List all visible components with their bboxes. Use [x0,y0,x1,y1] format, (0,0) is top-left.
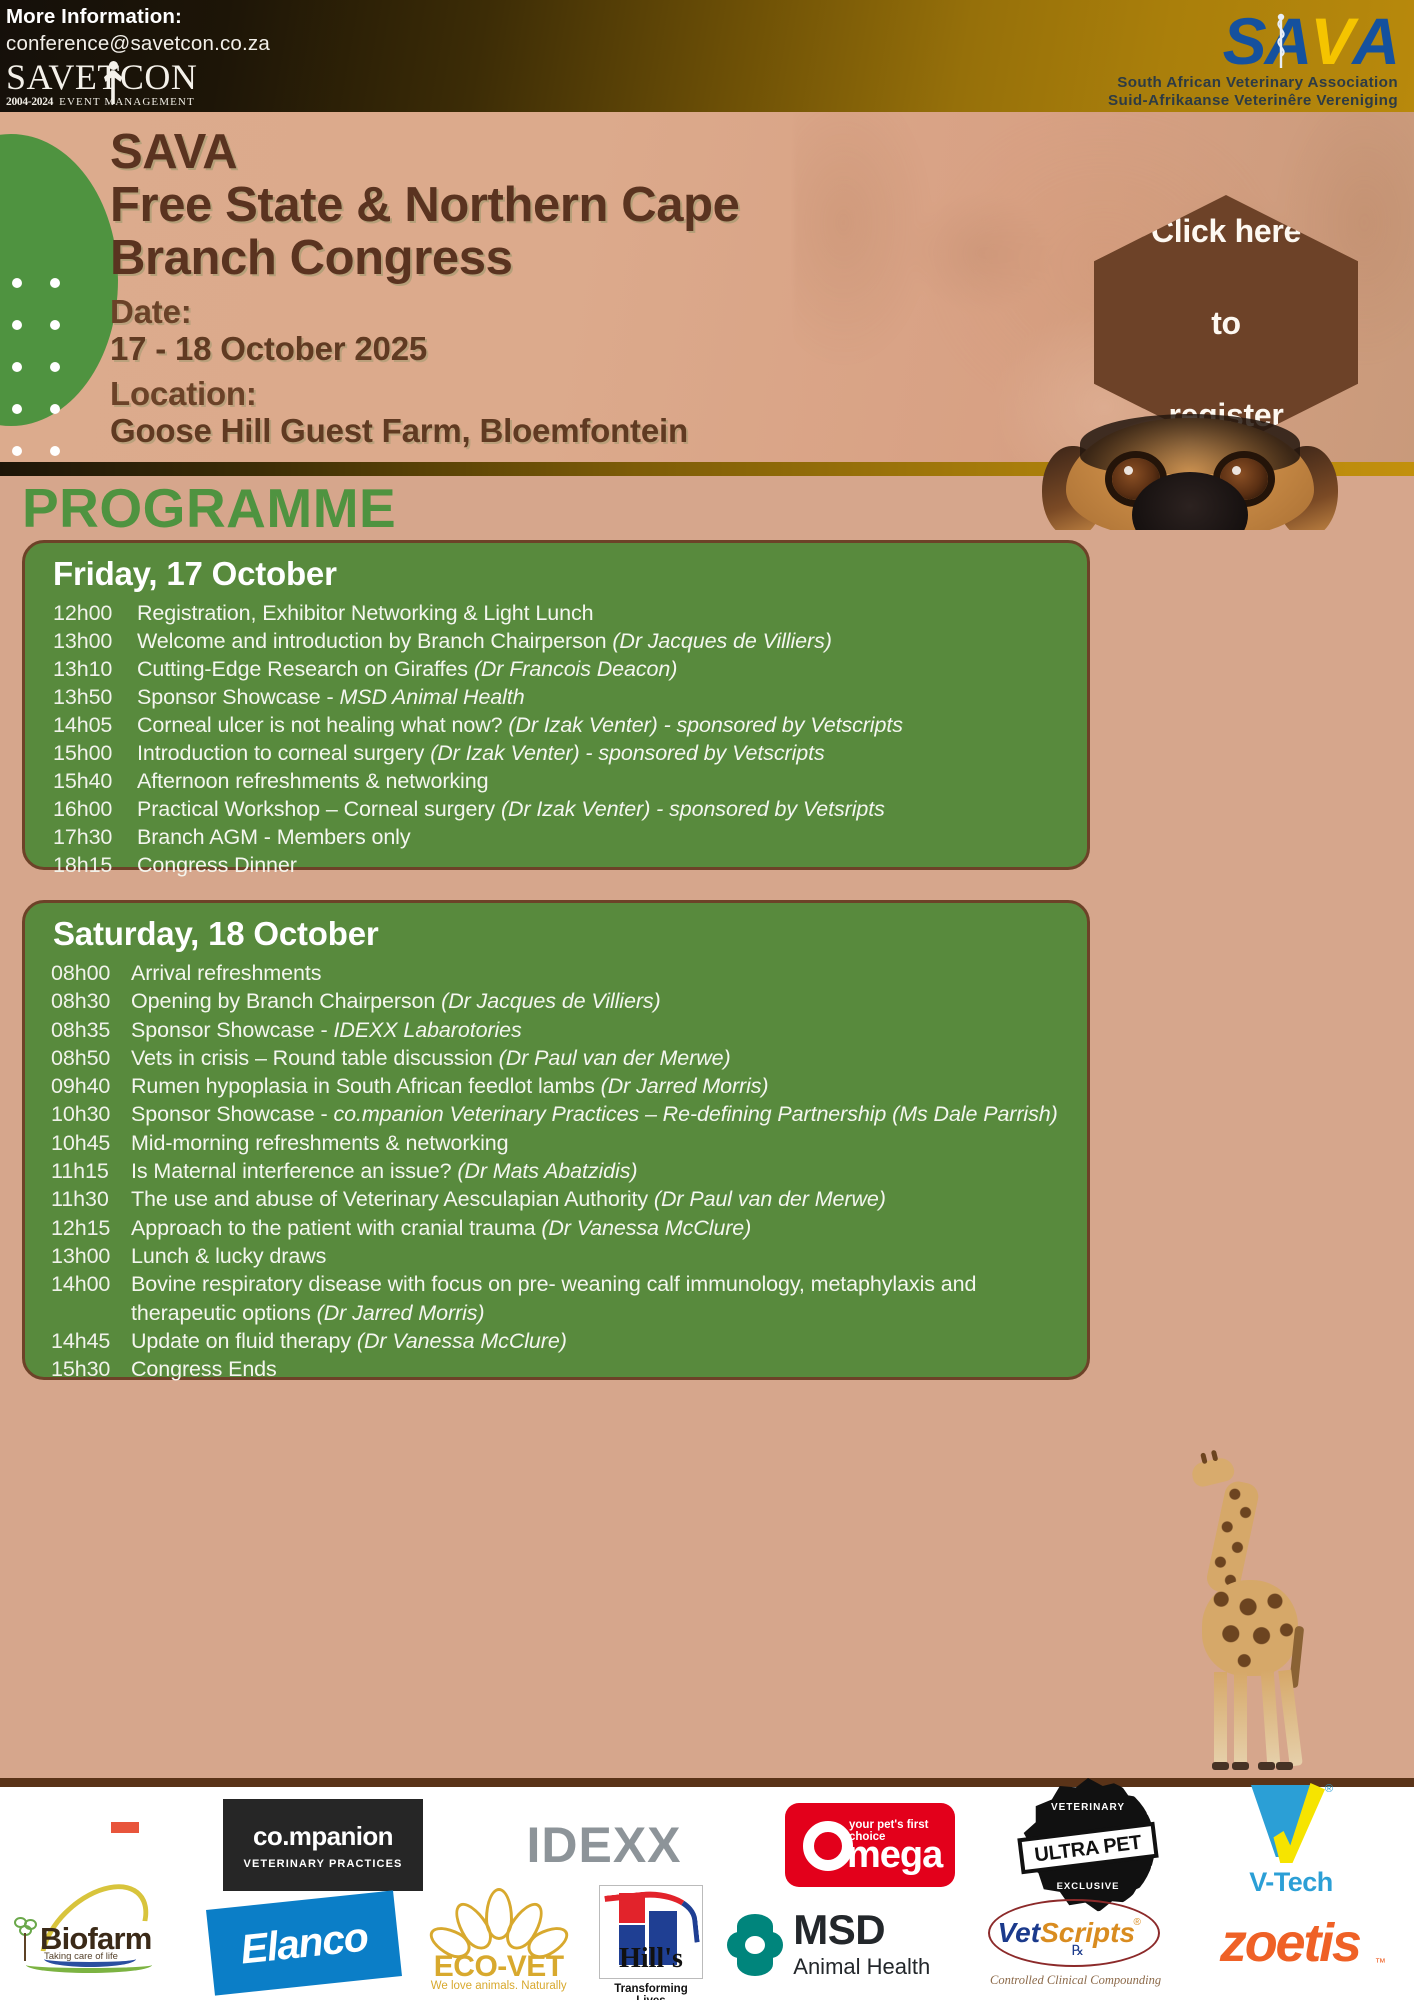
savetcon-wordmark: SAVETCON [6,59,316,95]
contact-block: More Information: conference@savetcon.co… [6,4,526,105]
session-row: 10h30 Sponsor Showcase - co.mpanion Vete… [51,1100,1087,1128]
session-row: 08h50 Vets in crisis – Round table discu… [51,1044,1087,1072]
session-time: 15h40 [53,767,137,795]
session-time: 12h00 [53,599,137,627]
session-desc: Mid-morning refreshments & networking [131,1129,508,1157]
session-desc: Cutting-Edge Research on Giraffes (Dr Fr… [137,655,677,683]
session-row: 08h30 Opening by Branch Chairperson (Dr … [51,987,1087,1015]
session-desc: Congress Dinner [137,851,297,879]
sponsor-logo-strip: Biofarm Taking care of life co.mpanion V… [0,1778,1414,2000]
session-row: 13h10 Cutting-Edge Research on Giraffes … [53,655,1087,683]
day-card-friday: Friday, 17 October 12h00 Registration, E… [22,540,1090,870]
date-value: 17 - 18 October 2025 [110,330,1070,367]
msd-tagline: Animal Health [793,1954,930,1980]
sponsor-logo-hills: Hill's Transforming Lives [599,1885,703,2000]
session-desc: Is Maternal interference an issue? (Dr M… [131,1157,637,1185]
session-time: 15h00 [53,739,137,767]
session-row: 15h30 Congress Ends [51,1355,1087,1383]
location-value: Goose Hill Guest Farm, Bloemfontein [110,412,1070,449]
session-row: 11h15 Is Maternal interference an issue?… [51,1157,1087,1185]
congress-title-line-1: SAVA [110,126,1070,179]
dog-photo [1040,410,1340,530]
session-desc: Registration, Exhibitor Networking & Lig… [137,599,594,627]
msd-name: MSD [793,1906,885,1954]
savetcon-years: 2004-2024 [6,96,53,108]
session-desc: Bovine respiratory disease with focus on… [131,1270,976,1298]
ultrapet-top-text: VETERINARY [1021,1802,1155,1813]
sponsor-logo-ultrapet: VETERINARY ULTRA PET EXCLUSIVE [1021,1778,1155,1912]
session-row: 13h50 Sponsor Showcase - MSD Animal Heal… [53,683,1087,711]
day-card-saturday: Saturday, 18 October 08h00 Arrival refre… [22,900,1090,1380]
companion-tagline: VETERINARY PRACTICES [244,1858,403,1870]
sava-text-sa: SA [1223,8,1311,74]
session-time: 13h50 [53,683,137,711]
sava-association-logo: SAVA South African Veterinary Associatio… [1018,8,1398,104]
session-time: 10h45 [51,1129,131,1157]
congress-title-line-2: Free State & Northern Cape [110,179,1070,232]
savetcon-logo: SAVETCON 2004-2024EVENT MANAGEMENT [6,59,316,105]
session-desc: Opening by Branch Chairperson (Dr Jacque… [131,987,661,1015]
session-desc: Arrival refreshments [131,959,321,987]
top-information-bar: More Information: conference@savetcon.co… [0,0,1414,112]
vetscripts-tagline: Controlled Clinical Compounding [984,1973,1168,1988]
session-row: 13h00 Welcome and introduction by Branch… [53,627,1087,655]
session-time: 09h40 [51,1072,131,1100]
session-desc: Sponsor Showcase - MSD Animal Health [137,683,525,711]
vtech-registered-mark: ® [1325,1783,1333,1795]
session-desc: Rumen hypoplasia in South African feedlo… [131,1072,768,1100]
ecovet-name: ECO-VET [423,1950,575,1984]
session-time: 11h30 [51,1185,131,1213]
vetscripts-name-1: Vet [998,1917,1041,1948]
sponsor-logo-idexx: IDEXX [489,1817,719,1873]
session-row: 12h00 Registration, Exhibitor Networking… [53,599,1087,627]
session-row: 14h45 Update on fluid therapy (Dr Vaness… [51,1327,1087,1355]
session-desc: Approach to the patient with cranial tra… [131,1214,751,1242]
session-desc: Sponsor Showcase - co.mpanion Veterinary… [131,1100,1058,1128]
session-desc: The use and abuse of Veterinary Aesculap… [131,1185,886,1213]
session-time: 13h00 [51,1242,131,1270]
session-row: 09h40 Rumen hypoplasia in South African … [51,1072,1087,1100]
date-label: Date: [110,293,1070,330]
session-time: 17h30 [53,823,137,851]
session-time: 11h15 [51,1157,131,1185]
ultrapet-bottom-text: EXCLUSIVE [1021,1881,1155,1892]
session-desc: Sponsor Showcase - IDEXX Labarotories [131,1016,522,1044]
decorative-dot-grid [8,278,78,462]
session-row: 14h00 Bovine respiratory disease with fo… [51,1270,1087,1298]
session-desc: Vets in crisis – Round table discussion … [131,1044,731,1072]
ecovet-tagline: We love animals. Naturally [423,1980,575,1992]
session-row: 08h35 Sponsor Showcase - IDEXX Labarotor… [51,1016,1087,1044]
sponsor-row-1: co.mpanion VETERINARY PRACTICES IDEXX yo… [0,1799,1414,1891]
session-time: 08h00 [51,959,131,987]
congress-title-line-3: Branch Congress [110,232,1070,285]
location-label: Location: [110,375,1070,412]
register-button-line-2: to [1151,300,1301,346]
session-row: 11h30 The use and abuse of Veterinary Ae… [51,1185,1087,1213]
session-time: 08h50 [51,1044,131,1072]
sava-subtitle-afrikaans: Suid-Afrikaanse Veterinêre Vereniging [1018,92,1398,110]
session-time: 13h00 [53,627,137,655]
session-list-saturday: 08h00 Arrival refreshments 08h30 Opening… [25,959,1087,1383]
session-row: 08h00 Arrival refreshments [51,959,1087,987]
sponsor-logo-zoetis: zoetis ™ [1192,1905,1388,1981]
sava-text-a: A [1352,8,1398,74]
session-row: 12h15 Approach to the patient with crani… [51,1214,1087,1242]
poster-page: More Information: conference@savetcon.co… [0,0,1414,2000]
caduceus-icon [1268,12,1294,70]
elanco-name: Elanco [239,1913,370,1973]
vetscripts-registered-mark: ® [1134,1917,1141,1928]
sponsor-logo-companion: co.mpanion VETERINARY PRACTICES [223,1799,423,1891]
companion-name: co.mpanion [253,1821,393,1852]
sponsor-logo-vtech: ® V-Tech [1221,1781,1361,1909]
sponsor-logo-msd: MSD Animal Health [727,1900,959,1986]
session-time: 12h15 [51,1214,131,1242]
session-desc: Introduction to corneal surgery (Dr Izak… [137,739,825,767]
session-row: 17h30 Branch AGM - Members only [53,823,1087,851]
sava-text-v: V [1310,8,1352,74]
more-information-label: More Information: [6,4,526,30]
vetscripts-rx-icon: ℞ [1072,1943,1085,1960]
page-title: PROGRAMME [22,478,396,538]
sponsor-logo-vetscripts: VetScripts ® ℞ Controlled Clinical Compo… [984,1893,1168,1993]
session-desc: Afternoon refreshments & networking [137,767,488,795]
vetscripts-name-2: Scripts [1040,1917,1135,1948]
sponsor-row-2: Elanco ECO-VET We love animals. Naturall… [0,1893,1414,1993]
sponsor-logo-omega: your pet's first choice mega [785,1803,955,1887]
hills-name: Hill's [599,1943,703,1975]
hero-text-block: SAVA Free State & Northern Cape Branch C… [110,126,1070,449]
zoetis-tm-mark: ™ [1375,1957,1386,1969]
savetcon-subline: 2004-2024EVENT MANAGEMENT [6,96,195,108]
idexx-name: IDEXX [526,1816,681,1874]
giraffe-illustration [1180,1448,1320,1778]
day-title-friday: Friday, 17 October [25,543,1087,599]
zoetis-name: zoetis [1220,1912,1360,1974]
session-time: 08h30 [51,987,131,1015]
session-row: 14h05 Corneal ulcer is not healing what … [53,711,1087,739]
session-row: 15h40 Afternoon refreshments & networkin… [53,767,1087,795]
session-time: 14h05 [53,711,137,739]
session-desc: Welcome and introduction by Branch Chair… [137,627,832,655]
session-desc: Congress Ends [131,1355,277,1383]
session-row-continuation: therapeutic options (Dr Jarred Morris) [51,1299,1087,1327]
session-desc: Practical Workshop – Corneal surgery (Dr… [137,795,885,823]
session-row: 13h00 Lunch & lucky draws [51,1242,1087,1270]
session-time: 16h00 [53,795,137,823]
session-time: 14h45 [51,1327,131,1355]
session-time: 13h10 [53,655,137,683]
session-time: 18h15 [53,851,137,879]
session-desc: Corneal ulcer is not healing what now? (… [137,711,903,739]
session-desc: Lunch & lucky draws [131,1242,326,1270]
session-time: 10h30 [51,1100,131,1128]
session-time: 15h30 [51,1355,131,1383]
omega-circle-icon [803,1821,853,1871]
session-time: 08h35 [51,1016,131,1044]
session-desc: Update on fluid therapy (Dr Vanessa McCl… [131,1327,567,1355]
session-row: 16h00 Practical Workshop – Corneal surge… [53,795,1087,823]
sava-wordmark: SAVA [1018,8,1398,74]
session-row: 18h15 Congress Dinner [53,851,1087,879]
msd-mark-icon [727,1914,783,1976]
session-row: 10h45 Mid-morning refreshments & network… [51,1129,1087,1157]
session-list-friday: 12h00 Registration, Exhibitor Networking… [25,599,1087,879]
session-desc: Branch AGM - Members only [137,823,411,851]
sponsor-logo-elanco: Elanco [206,1890,402,1995]
omega-name: mega [847,1836,942,1874]
session-time: 14h00 [51,1270,131,1298]
savetcon-tagline: EVENT MANAGEMENT [59,96,195,108]
hills-tagline: Transforming Lives [599,1983,703,2000]
session-desc-continuation: therapeutic options (Dr Jarred Morris) [131,1299,484,1327]
session-row: 15h00 Introduction to corneal surgery (D… [53,739,1087,767]
contact-email[interactable]: conference@savetcon.co.za [6,31,526,58]
sponsor-logo-ecovet: ECO-VET We love animals. Naturally [423,1888,575,1998]
day-title-saturday: Saturday, 18 October [25,903,1087,959]
